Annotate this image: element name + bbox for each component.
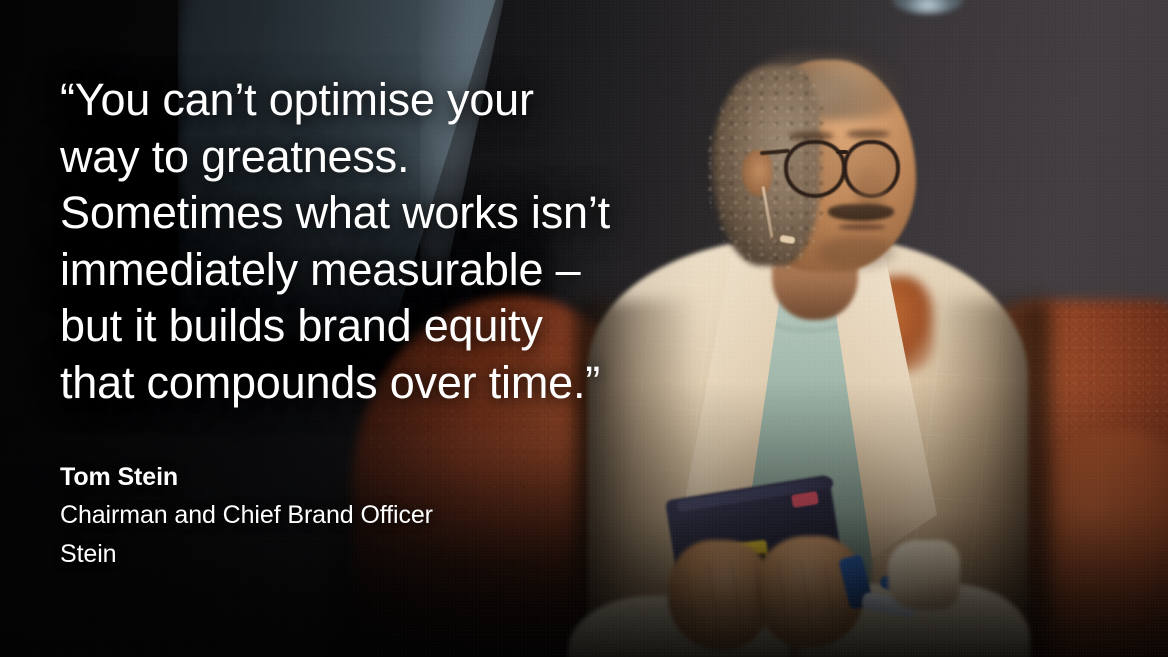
attribution-organisation: Stein [60, 535, 620, 574]
eyeglasses-bridge [836, 150, 848, 154]
chin-shadow [816, 236, 896, 270]
eyebrow-left [788, 132, 834, 140]
hair-side [712, 66, 820, 266]
eyeglasses-lens-left [784, 140, 846, 198]
tablet-red-tab [791, 491, 819, 508]
quote-text: “You can’t optimise your way to greatnes… [60, 72, 680, 411]
armchair-boucle-texture [930, 300, 1168, 657]
attribution-role: Chairman and Chief Brand Officer [60, 496, 620, 535]
eyebrow-right [846, 130, 890, 138]
mouth [838, 224, 886, 230]
eyeglasses-lens-right [843, 140, 900, 198]
trousers-right-leg [800, 584, 1030, 657]
ceiling-light-spot [892, 0, 964, 14]
jacket-shadow-right [930, 300, 1050, 657]
attribution-name: Tom Stein [60, 458, 620, 496]
hand-right [756, 536, 864, 648]
trousers-left-leg [568, 596, 788, 657]
face [738, 60, 916, 272]
forehead-highlight [800, 62, 874, 108]
finger-detail [672, 560, 852, 640]
moustache [828, 204, 894, 221]
hair-crown [750, 50, 900, 120]
eyeglasses-temple [760, 149, 790, 156]
nose [856, 166, 886, 212]
attribution-block: Tom Stein Chairman and Chief Brand Offic… [60, 458, 620, 574]
jacket-cuff [888, 540, 960, 610]
chair-behind-collar [856, 276, 934, 372]
white-wristband [861, 591, 917, 618]
quote-block: “You can’t optimise your way to greatnes… [60, 72, 680, 411]
tablet-case-spine [676, 477, 834, 513]
hair-curl-texture [706, 70, 826, 270]
hand-left [668, 540, 772, 650]
jacket-lapel-right [828, 248, 944, 558]
quote-slide: “You can’t optimise your way to greatnes… [0, 0, 1168, 657]
neck [772, 228, 858, 320]
tshirt [740, 284, 872, 604]
jacket-lapel-left [676, 250, 784, 550]
tablet-case [665, 475, 845, 604]
yellow-device [711, 540, 770, 573]
tshirt-collar [757, 284, 861, 332]
blue-wristband-secondary [879, 575, 927, 599]
lapel-microphone-capsule [780, 235, 796, 244]
armchair-back [930, 300, 1168, 657]
dark-device [715, 553, 769, 581]
lapel-microphone-wire [762, 186, 774, 238]
armchair-right-arm [1015, 430, 1168, 657]
blue-wristband [838, 554, 874, 610]
ear [742, 150, 772, 196]
